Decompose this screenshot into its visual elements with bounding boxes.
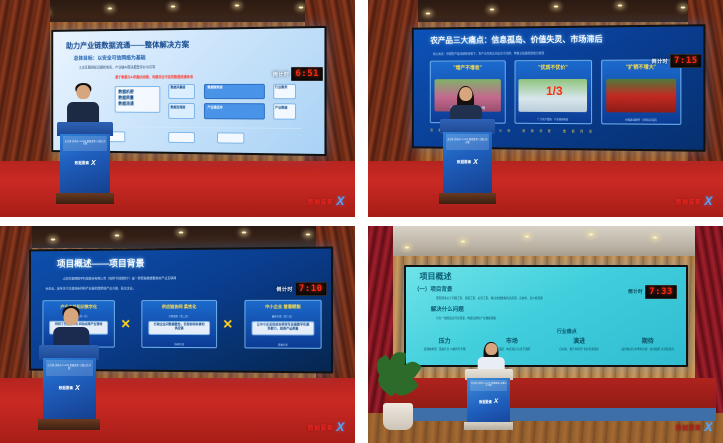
podium-logo-text: 数据要素 <box>75 161 89 166</box>
panel-4-presentation-photo[interactable]: 项目概述 （一）项目背景 聚焦国家关于问题工程、质量工程、标准工程，推动省级数据… <box>368 226 723 443</box>
podium-logo-text: 数据要素 <box>479 399 492 404</box>
podium-logo-text: 数据要素 <box>59 386 73 391</box>
podium-body: 山东省·济南市 2025年 数据要素×大赛山东分赛 数据要素 X <box>467 378 510 422</box>
podium-banner-text: 山东省·济南市 2025年 数据要素×大赛山东分赛 <box>46 360 93 376</box>
podium-base <box>464 422 513 430</box>
speaker-head <box>77 85 90 100</box>
countdown-timer-display: 7:33 <box>645 285 677 299</box>
countdown-timer-value: 7:10 <box>299 284 323 294</box>
countdown-timer-display: 7:10 <box>295 282 327 296</box>
podium: 山东省·济南市 2025年 数据要素×大赛山东分赛 数据要素 X <box>60 122 110 204</box>
podium-base <box>439 193 497 204</box>
formula-box-3-inner: 让中小企业低成本获得专业级数字化服务能力，提高产品质量 <box>251 320 314 335</box>
flow-box-4: 产业链应用 <box>204 103 265 119</box>
podium-banner-text: 山东省·济南市 2025年 数据要素×大赛山东分赛 <box>446 134 490 150</box>
speaker-head <box>64 308 79 324</box>
right-label-1: 行业服务 <box>275 85 294 97</box>
slide-title: 农产品三大痛点：信息孤岛、价值失灵、市场滞后 <box>430 34 602 47</box>
podium-logo-text: 数据要素 <box>457 160 471 165</box>
countdown-timer-value: 7:33 <box>649 287 673 297</box>
countdown-timer-label: 倒计时 <box>652 58 669 65</box>
podium-logo: 数据要素 X <box>59 385 80 392</box>
podium-logo: 数据要素 X <box>457 159 478 166</box>
watermark-text: 数据要素 <box>308 197 334 206</box>
podium-banner: 山东省·济南市 2025年 数据要素×大赛山东分赛 <box>446 134 490 150</box>
panel-3-presentation-photo[interactable]: 项目概述——项目背景 山东科恩网数字科技股份有限公司（简称"科恩数科"）是一家聚… <box>0 226 355 443</box>
card-1-headline: "增产不增收" <box>434 65 502 72</box>
podium-banner-text: 山东省·济南市 2025年 数据要素×大赛山东分赛 <box>470 380 508 391</box>
watermark: 数据要素 X <box>308 194 345 208</box>
formula-box-2-text: 打破企业间数据壁垒，实现协同共享的供应链 <box>152 322 205 333</box>
stage-skirt <box>386 408 716 421</box>
podium-logo-x-mark: X <box>494 398 498 405</box>
flow-box-1: 数据采集层 <box>168 84 195 100</box>
card-2-image: 1/3 <box>519 78 587 111</box>
speaker-head <box>486 343 497 355</box>
formula-box-2-subtitle: 关键保障（第二层） <box>147 314 211 318</box>
formula-box-3-text: 让中小企业低成本获得专业级数字化服务能力，提高产品质量 <box>255 322 310 334</box>
left-label-3: 数据流通 <box>118 101 133 106</box>
slide-bullet: 总体目标：以安全可信网络为基础 <box>74 55 146 62</box>
column-1: 压力 流通效率低 · 链路冗长 价格传导不畅 <box>417 336 473 351</box>
flow-box-3-label: 数据服务层 <box>208 86 261 98</box>
right-label-2: 产业数据 <box>275 105 294 118</box>
card-3-footer: 价格波动剧烈 · 市场反应滞后 <box>606 117 677 121</box>
podium: 山东省·济南市 2025年 数据要素×大赛山东分赛 数据要素 X <box>43 345 96 430</box>
flow-box-3: 数据服务层 <box>204 84 265 100</box>
podium-base <box>56 193 114 204</box>
formula-box-2: 供应链协同 柔性化 关键保障（第二层） 打破企业间数据壁垒，实现协同共享的供应链… <box>142 300 217 348</box>
panel-1-presentation-photo[interactable]: 助力产业链数据流通——整体解决方案 总体目标：以安全可信网络为基础 工业互联网标… <box>0 0 355 217</box>
slide-footer-chip-3 <box>217 133 245 144</box>
countdown-timer: 倒计时 7:15 <box>652 54 702 68</box>
slide-section-note: 聚焦国家关于问题工程、质量工程、标准工程，推动省级数据的高质量、高效率、高价值流… <box>436 296 542 300</box>
card-2-headline: "优质不优价" <box>518 64 588 71</box>
watermark: 数据要素 X <box>308 420 345 434</box>
column-3: 演进 自动化、数字化转型 专业化通道化 <box>551 336 607 351</box>
countdown-timer-display: 7:15 <box>670 54 702 68</box>
formula-box-2-footer: 协同共创 <box>146 341 212 345</box>
left-label-2: 数据质量 <box>118 95 133 100</box>
left-label-1: 数据机密 <box>118 89 133 94</box>
podium-logo-x-mark: X <box>91 160 96 167</box>
countdown-timer-label: 倒计时 <box>276 286 293 293</box>
column-1-text: 流通效率低 · 链路冗长 价格传导不畅 <box>417 347 473 351</box>
countdown-timer-label: 倒计时 <box>273 71 290 78</box>
watermark: 数据要素 X <box>676 194 713 208</box>
column-4-head: 期待 <box>618 336 677 345</box>
formula-box-2-title: 供应链协同 柔性化 <box>146 303 213 309</box>
formula-box-3-subtitle: 最终价值（第三层） <box>250 314 316 318</box>
slide-footer-chip-2 <box>168 132 195 143</box>
slide-title: 助力产业链数据流通——整体解决方案 <box>66 39 189 51</box>
podium-body: 山东省·济南市 2025年 数据要素×大赛山东分赛 数据要素 X <box>43 358 96 419</box>
podium: 山东省·济南市 2025年 数据要素×大赛山东分赛 数据要素 X <box>467 369 510 430</box>
operator-x-1: × <box>121 315 130 333</box>
podium-logo: 数据要素 X <box>479 398 498 405</box>
right-label-box-2: 产业数据 <box>273 104 296 120</box>
podium-banner: 山东省·济南市 2025年 数据要素×大赛山东分赛 <box>470 380 508 391</box>
red-carpet-floor <box>368 161 723 217</box>
formula-box-3-footer: 普惠共享 <box>249 342 317 346</box>
card-2-big-number: 1/3 <box>546 84 563 98</box>
podium-logo-x-mark: X <box>473 159 478 166</box>
cluster-title: 行业痛点 <box>557 328 577 335</box>
formula-box-3-title: 中小企业 普惠赋能 <box>248 303 317 309</box>
watermark: 数据要素 X <box>676 420 713 434</box>
led-screen: 项目概述 （一）项目背景 聚焦国家关于问题工程、质量工程、标准工程，推动省级数据… <box>404 265 688 367</box>
bottom-label-4: 分销 <box>499 129 516 132</box>
panel-2-presentation-photo[interactable]: 农产品三大痛点：信息孤岛、价值失灵、市场滞后 核心痛点：中国农产品流通效率低下，… <box>368 0 723 217</box>
watermark-x-icon: X <box>704 194 712 208</box>
formula-box-2-inner: 打破企业间数据壁垒，实现协同共享的供应链 <box>148 320 209 335</box>
watermark-x-icon: X <box>704 420 712 434</box>
card-2-footer: 广大农户受损 · 产业链损耗高 <box>519 117 587 121</box>
speaker-head <box>459 87 472 102</box>
watermark-x-icon: X <box>336 194 344 208</box>
slide-bullet: 核心痛点：中国农产品流通效率低下，农户与市场之间信息不对称，导致全链路增值能力受… <box>433 50 682 56</box>
slide-subline-2: 基于数据与AI的融合创新，构建安全可信的数据流通体系 <box>115 74 193 79</box>
watermark-x-icon: X <box>336 420 344 434</box>
flow-box-4-label: 产业链应用 <box>208 105 261 118</box>
column-3-text: 自动化、数字化转型 专业化通道化 <box>551 347 607 351</box>
bottom-label-5: 终端消费 <box>523 129 557 132</box>
countdown-timer-value: 6:51 <box>295 69 319 79</box>
slide-title: 项目概述——项目背景 <box>57 256 145 269</box>
podium-body: 山东省·济南市 2025年 数据要素×大赛山东分赛 数据要素 X <box>60 134 110 193</box>
slide-subsection-heading: 解决什么问题 <box>431 305 464 313</box>
slide-body-line-1: 山东科恩网数字科技股份有限公司（简称"科恩数科"）是一家聚焦数据要素的产业互联网 <box>63 276 177 281</box>
bottom-label-6: 数据回流 <box>563 130 598 133</box>
column-4-text: 政府推动与市场化共建 · 双向赋能 可持续运营 <box>618 347 677 351</box>
podium-banner: 山东省·济南市 2025年 数据要素×大赛山东分赛 <box>46 360 93 376</box>
watermark-text: 数据要素 <box>308 423 334 432</box>
countdown-timer: 倒计时 7:10 <box>276 282 326 296</box>
countdown-timer-value: 7:15 <box>674 56 698 66</box>
flow-box-1-label: 数据采集层 <box>171 86 194 98</box>
right-label-box-1: 行业服务 <box>273 84 296 100</box>
podium-body: 山东省·济南市 2025年 数据要素×大赛山东分赛 数据要素 X <box>443 132 493 193</box>
red-carpet-floor <box>0 161 355 217</box>
podium-logo-x-mark: X <box>75 385 80 392</box>
slide-subsection-note: 针对一线制造业行业需要，构建完整的产业数据通路 <box>436 316 496 320</box>
watermark-text: 数据要素 <box>676 197 702 206</box>
podium-banner-text: 山东省·济南市 2025年 数据要素×大赛山东分赛 <box>63 136 107 151</box>
column-4: 期待 政府推动与市场化共建 · 双向赋能 可持续运营 <box>618 336 677 351</box>
podium-logo: 数据要素 X <box>75 160 96 167</box>
column-3-head: 演进 <box>551 336 607 345</box>
flow-box-2: 数据治理层 <box>168 103 195 119</box>
potted-plant <box>375 352 421 430</box>
podium-base <box>38 419 100 430</box>
slide-section-heading: （一）项目背景 <box>414 285 453 293</box>
podium-banner: 山东省·济南市 2025年 数据要素×大赛山东分赛 <box>63 136 107 151</box>
watermark-text: 数据要素 <box>676 423 702 432</box>
slide-body-line-2: 台企业，是专注于高温电新材料产业链的国家级产业大脑、链主企业。 <box>45 286 135 290</box>
countdown-timer: 倒计时 6:51 <box>273 67 323 81</box>
card-3-image <box>606 78 677 112</box>
podium: 山东省·济南市 2025年 数据要素×大赛山东分赛 数据要素 X <box>443 119 493 204</box>
flow-box-2-label: 数据治理层 <box>171 105 194 117</box>
photo-collage: 助力产业链数据流通——整体解决方案 总体目标：以安全可信网络为基础 工业互联网标… <box>0 0 723 443</box>
countdown-timer-label: 倒计时 <box>628 289 643 295</box>
pain-point-card-3: "扩销不增大" 价格波动剧烈 · 市场反应滞后 <box>601 60 682 125</box>
pain-point-card-2: "优质不优价" 1/3 广大农户受损 · 产业链损耗高 <box>514 60 592 124</box>
slide-subline-1: 工业互联网标识解析体系、产业链AI算法模型评价与引导 <box>79 64 155 69</box>
slide-title: 项目概述 <box>420 271 452 282</box>
formula-box-3: 中小企业 普惠赋能 最终价值（第三层） 让中小企业低成本获得专业级数字化服务能力… <box>244 300 322 349</box>
column-1-head: 压力 <box>417 336 473 345</box>
operator-x-2: × <box>223 316 232 334</box>
countdown-timer: 倒计时 7:33 <box>628 285 677 299</box>
diagram-left-label-box: 数据机密 数据质量 数据流通 <box>115 86 160 113</box>
countdown-timer-display: 6:51 <box>291 67 323 81</box>
plant-pot <box>383 403 413 430</box>
